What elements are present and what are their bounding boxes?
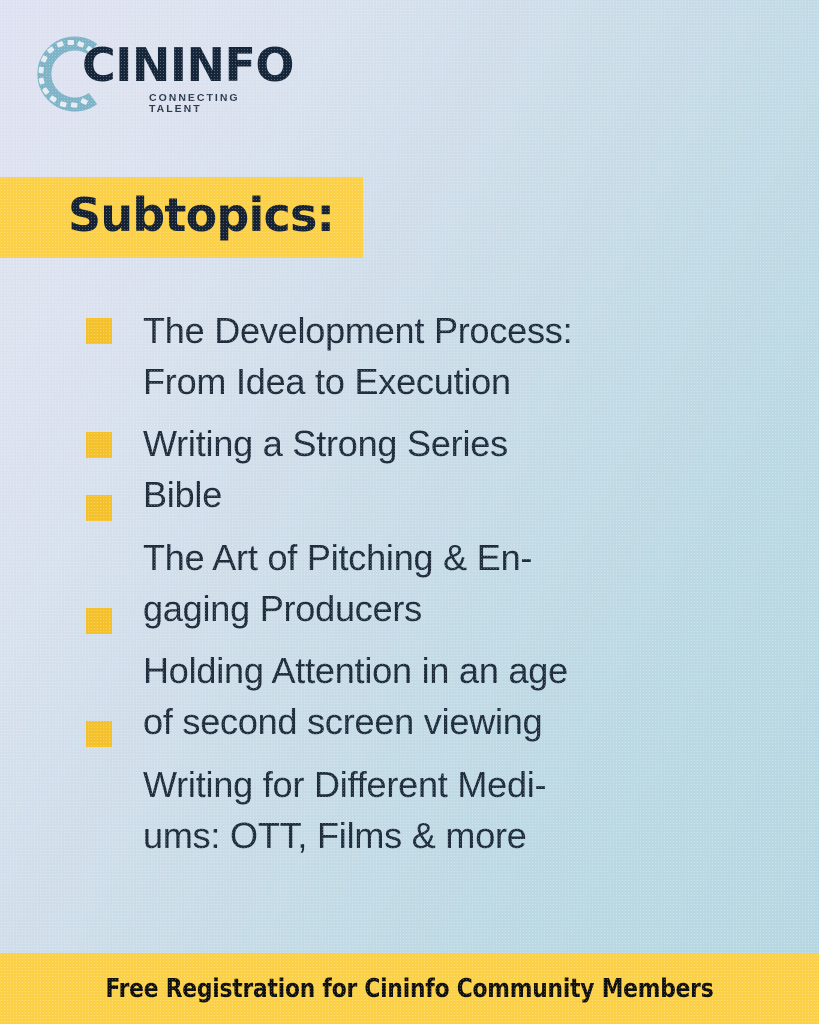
cininfo-logo: CININFO CONNECTING TALENT	[33, 36, 293, 116]
bullet-marker-2	[86, 432, 112, 458]
list-item: The Development Process: From Idea to Ex…	[143, 305, 703, 407]
list-item: Writing for Different Medi- ums: OTT, Fi…	[143, 759, 703, 861]
bullet-marker-4	[86, 608, 112, 634]
slide-canvas: CININFO CONNECTING TALENT Subtopics: The…	[0, 0, 819, 1024]
footer-registration-note: Free Registration for Cininfo Community …	[29, 953, 791, 1024]
bullet-marker-3	[86, 495, 112, 521]
page-title: Subtopics:	[68, 192, 334, 238]
bullet-marker-1	[86, 318, 112, 344]
list-item: Writing a Strong Series Bible	[143, 418, 703, 520]
logo-wordmark: CININFO	[82, 42, 294, 88]
list-item: The Art of Pitching & En- gaging Produce…	[143, 532, 703, 634]
bullet-marker-5	[86, 721, 112, 747]
logo-tagline: CONNECTING TALENT	[149, 93, 293, 114]
list-item: Holding Attention in an age of second sc…	[143, 645, 703, 747]
